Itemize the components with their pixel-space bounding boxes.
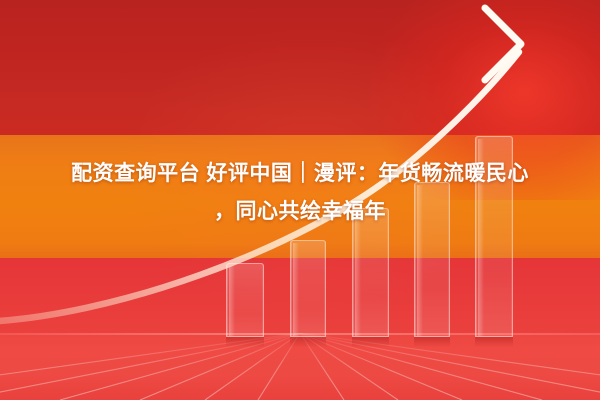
promo-banner: 配资查询平台 好评中国｜漫评：年货畅流暖民心 ，同心共绘幸福年 <box>0 0 600 400</box>
bar-highlight <box>229 266 235 336</box>
bar-shadow <box>475 337 513 347</box>
bar-shadow <box>414 337 450 347</box>
bar-shadow <box>352 337 389 347</box>
title-line-2: ，同心共绘幸福年 <box>14 193 586 231</box>
bar-highlight <box>293 243 299 336</box>
title-line-1: 配资查询平台 好评中国｜漫评：年货畅流暖民心 <box>14 155 586 193</box>
bar-shadow <box>290 337 326 347</box>
background-band-top <box>0 0 600 135</box>
chart-bar-2 <box>290 240 326 337</box>
chart-bar-1 <box>226 263 264 337</box>
bar-shadow <box>226 337 264 347</box>
page-title: 配资查询平台 好评中国｜漫评：年货畅流暖民心 ，同心共绘幸福年 <box>0 155 600 231</box>
